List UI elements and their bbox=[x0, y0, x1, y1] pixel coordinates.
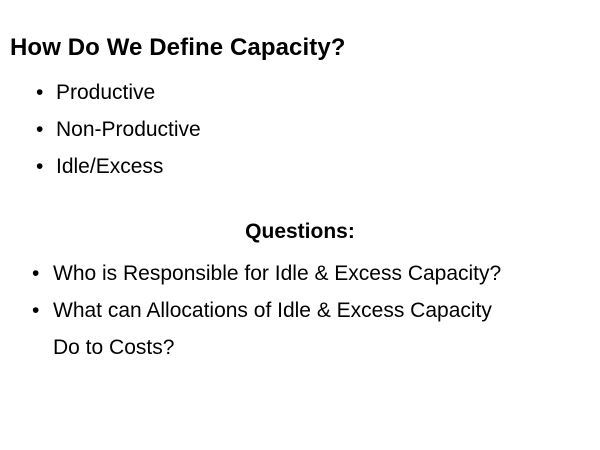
list-item: • Who is Responsible for Idle & Excess C… bbox=[32, 255, 592, 292]
list-item: • Non-Productive bbox=[36, 111, 556, 148]
list-item: • What can Allocations of Idle & Excess … bbox=[32, 292, 592, 366]
presentation-slide: How Do We Define Capacity? • Productive … bbox=[0, 0, 600, 450]
bullet-icon: • bbox=[32, 255, 46, 292]
list-item: • Idle/Excess bbox=[36, 148, 556, 185]
list-item-label-continued: Do to Costs? bbox=[53, 329, 592, 366]
list-item-label: Who is Responsible for Idle & Excess Cap… bbox=[53, 262, 501, 285]
list-item-label: Idle/Excess bbox=[56, 155, 163, 178]
list-item-label: What can Allocations of Idle & Excess Ca… bbox=[53, 299, 492, 322]
questions-heading: Questions: bbox=[0, 219, 600, 245]
bullet-icon: • bbox=[36, 74, 50, 111]
list-item-label: Productive bbox=[56, 81, 155, 104]
capacity-types-list: • Productive • Non-Productive • Idle/Exc… bbox=[36, 74, 556, 185]
list-item-label: Non-Productive bbox=[56, 118, 201, 141]
page-title: How Do We Define Capacity? bbox=[10, 34, 346, 62]
bullet-icon: • bbox=[32, 292, 46, 329]
bullet-icon: • bbox=[36, 111, 50, 148]
bullet-icon: • bbox=[36, 148, 50, 185]
questions-list: • Who is Responsible for Idle & Excess C… bbox=[32, 255, 592, 366]
list-item: • Productive bbox=[36, 74, 556, 111]
